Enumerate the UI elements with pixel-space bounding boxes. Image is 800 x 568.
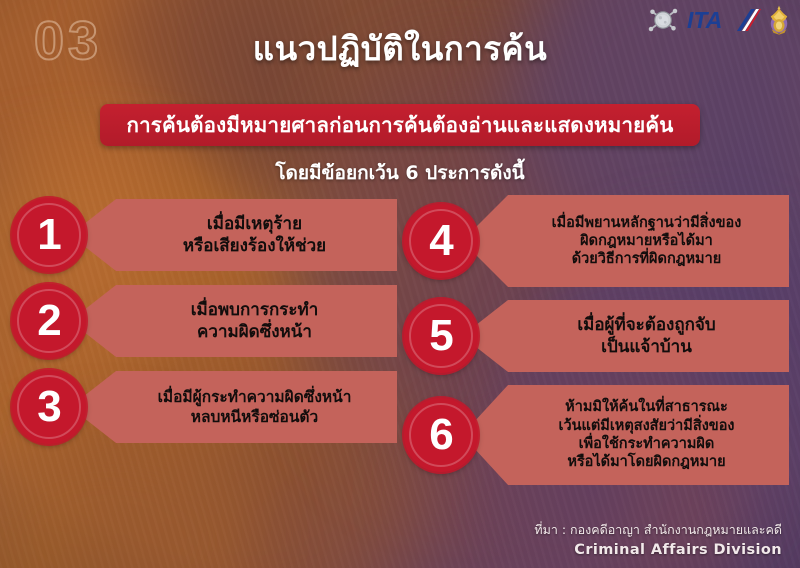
item-number: 5 (429, 314, 452, 358)
item-line: เมื่อผู้ที่จะต้องถูกจับ (577, 314, 715, 336)
item-arrow-plate: เมื่อมีพยานหลักฐานว่ามีสิ่งของ ผิดกฎหมาย… (462, 195, 789, 287)
ita-logo: ITA (687, 7, 761, 33)
subtitle: โดยมีข้อยกเว้น 6 ประการดังนี้ (0, 158, 800, 188)
item-number-badge: 6 (404, 398, 478, 472)
ita-logo-text: ITA (687, 7, 722, 33)
items-column-right: 4 เมื่อมีพยานหลักฐานว่ามีสิ่งของ ผิดกฎหม… (404, 195, 789, 497)
item-line: เป็นแจ้าบ้าน (577, 336, 715, 358)
item-line: ห้ามมิให้ค้นในที่สาธารณะ (558, 398, 734, 416)
logo-group: ITA (646, 4, 790, 36)
list-item: 6 ห้ามมิให้ค้นในที่สาธารณะ เว้นแต่มีเหตุ… (404, 385, 789, 485)
item-line: หรือได้มาโดยผิดกฎหมาย (558, 453, 734, 471)
infographic-canvas: 03 แนวปฏิบัติในการค้น ITA (0, 0, 800, 568)
item-arrow-plate: เมื่อผู้ที่จะต้องถูกจับ เป็นแจ้าบ้าน (462, 300, 789, 372)
item-number: 4 (429, 219, 452, 263)
item-number: 2 (37, 299, 60, 343)
item-line: เพื่อใช้กระทำความผิด (558, 435, 734, 453)
rule-banner: การค้นต้องมีหมายศาลก่อนการค้นต้องอ่านและ… (100, 104, 700, 146)
list-item: 4 เมื่อมีพยานหลักฐานว่ามีสิ่งของ ผิดกฎหม… (404, 195, 789, 287)
item-number-badge: 3 (12, 370, 86, 444)
item-number-badge: 1 (12, 198, 86, 272)
item-line: เว้นแต่มีเหตุสงสัยว่ามีสิ่งของ (558, 417, 734, 435)
item-arrow-plate: เมื่อมีเหตุร้าย หรือเสียงร้องให้ช่วย (70, 199, 397, 271)
mace-emblem-icon (646, 5, 680, 35)
ita-logo-mark: ITA (687, 7, 761, 33)
item-number: 6 (429, 413, 452, 457)
item-line: หลบหนีหรือซ่อนตัว (158, 407, 352, 427)
item-line: เมื่อมีผู้กระทำความผิดซึ่งหน้า (158, 387, 352, 407)
list-item: 1 เมื่อมีเหตุร้าย หรือเสียงร้องให้ช่วย (12, 198, 397, 272)
items-column-left: 1 เมื่อมีเหตุร้าย หรือเสียงร้องให้ช่วย 2… (12, 198, 397, 456)
list-item: 3 เมื่อมีผู้กระทำความผิดซึ่งหน้า หลบหนีห… (12, 370, 397, 444)
item-number-badge: 5 (404, 299, 478, 373)
footer-source-th: ที่มา : กองคดีอาญา สำนักงานกฎหมายและคดี (534, 521, 782, 540)
item-arrow-plate: เมื่อพบการกระทำ ความผิดซึ่งหน้า (70, 285, 397, 357)
item-arrow-plate: ห้ามมิให้ค้นในที่สาธารณะ เว้นแต่มีเหตุสง… (462, 385, 789, 485)
item-line: ผิดกฎหมายหรือได้มา (552, 232, 742, 250)
footer: ที่มา : กองคดีอาญา สำนักงานกฎหมายและคดี … (534, 521, 782, 560)
list-item: 2 เมื่อพบการกระทำ ความผิดซึ่งหน้า (12, 284, 397, 358)
garuda-emblem-icon (768, 5, 790, 35)
list-item: 5 เมื่อผู้ที่จะต้องถูกจับ เป็นแจ้าบ้าน (404, 299, 789, 373)
item-arrow-plate: เมื่อมีผู้กระทำความผิดซึ่งหน้า หลบหนีหรื… (70, 371, 397, 443)
rule-banner-text: การค้นต้องมีหมายศาลก่อนการค้นต้องอ่านและ… (126, 109, 673, 142)
item-line: เมื่อมีพยานหลักฐานว่ามีสิ่งของ (552, 214, 742, 232)
item-line: ความผิดซึ่งหน้า (191, 321, 319, 343)
footer-source-en: Criminal Affairs Division (534, 540, 782, 560)
item-number-badge: 4 (404, 204, 478, 278)
item-line: เมื่อมีเหตุร้าย (183, 213, 326, 235)
item-number-badge: 2 (12, 284, 86, 358)
item-line: เมื่อพบการกระทำ (191, 299, 319, 321)
item-number: 3 (37, 385, 60, 429)
item-line: หรือเสียงร้องให้ช่วย (183, 235, 326, 257)
item-number: 1 (37, 213, 60, 257)
item-line: ด้วยวิธีการที่ผิดกฎหมาย (552, 250, 742, 268)
